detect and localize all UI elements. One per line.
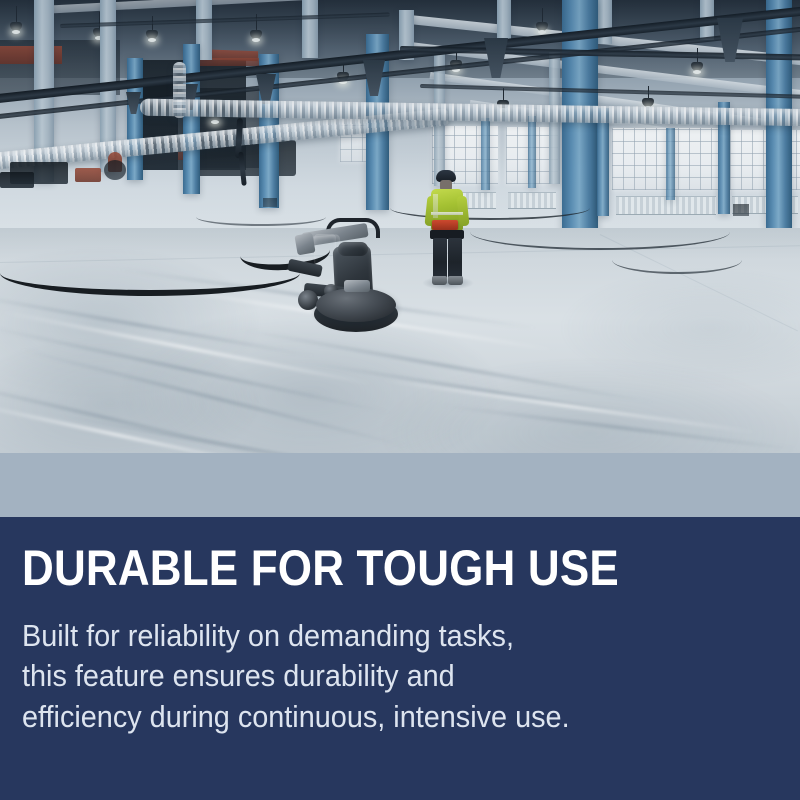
worker-boot <box>448 276 463 285</box>
steel-column <box>481 118 490 190</box>
equipment-reel <box>104 160 126 180</box>
steel-column <box>528 116 536 188</box>
panel-body-text: Built for reliability on demanding tasks… <box>22 616 723 737</box>
power-cable <box>612 246 742 274</box>
worker-leg <box>448 238 462 278</box>
divider-band <box>0 453 800 517</box>
power-cable <box>470 214 730 250</box>
equipment-box <box>263 198 277 207</box>
floor-grinder-machine <box>286 200 406 340</box>
worker-leg <box>433 238 447 278</box>
steel-column <box>597 108 609 216</box>
body-line: this feature ensures durability and <box>22 656 723 696</box>
text-panel: DURABLE FOR TOUGH USE Built for reliabil… <box>0 517 800 800</box>
panel-heading: DURABLE FOR TOUGH USE <box>22 543 686 594</box>
lamp-stem <box>542 8 543 22</box>
worker-arm <box>456 196 469 227</box>
body-line: efficiency during continuous, intensive … <box>22 697 723 737</box>
equipment-cart <box>0 172 34 188</box>
hero-photo <box>0 0 800 453</box>
grinder-head <box>316 288 396 322</box>
lamp-stem <box>16 6 17 22</box>
grinder-hitch <box>344 280 370 292</box>
body-line: Built for reliability on demanding tasks… <box>22 616 723 656</box>
equipment-box <box>733 204 749 216</box>
concrete-column <box>302 0 318 58</box>
worker-boot <box>432 276 447 285</box>
industrial-hall-scene <box>0 0 800 453</box>
grinder-motor-cap <box>338 242 368 256</box>
grinder-wheel <box>298 290 318 310</box>
grinder-cover <box>294 233 315 256</box>
duct-drop <box>173 62 186 118</box>
worker-reflective-stripe <box>433 194 438 218</box>
worker-operator <box>420 170 474 292</box>
promo-banner-card: DURABLE FOR TOUGH USE Built for reliabil… <box>0 0 800 800</box>
steel-column <box>127 58 143 180</box>
steel-column <box>666 128 675 200</box>
remote-control-unit <box>432 220 458 230</box>
equipment-crate <box>75 168 101 182</box>
